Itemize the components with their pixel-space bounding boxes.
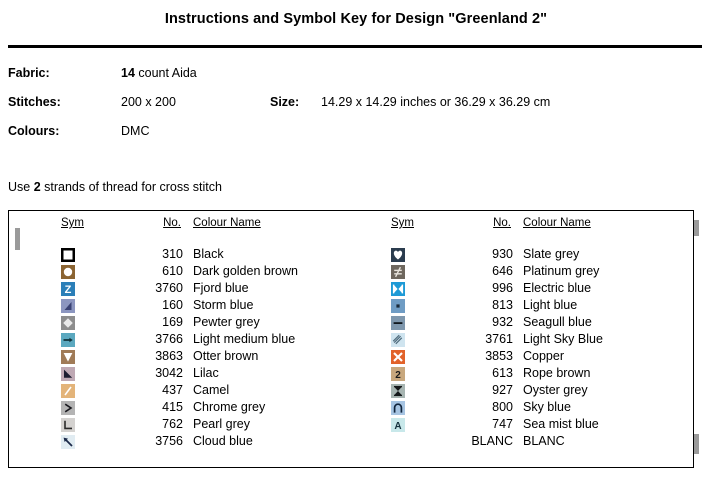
heart-icon [391,248,405,262]
thread-number: 3853 [451,349,513,363]
table-row: 927Oyster grey [355,383,685,400]
pattern-metadata: Fabric: 14 count Aida Stitches: 200 x 20… [8,66,704,153]
colour-name: Rope brown [523,366,590,380]
colour-name: Oyster grey [523,383,588,397]
diamond-icon [61,316,75,330]
table-row: 3756Cloud blue [25,434,355,451]
symbol-key-column-right: Sym No. Colour Name 930Slate grey646Plat… [355,217,685,451]
arrow-right-icon [61,333,75,347]
header-sym-left: Sym [61,217,84,229]
colour-name: Light medium blue [193,332,295,346]
stitches-row: Stitches: 200 x 200 Size: 14.29 x 14.29 … [8,95,704,124]
colour-name: Sea mist blue [523,417,599,431]
diagonal-arrow-icon [61,435,75,449]
table-row: 415Chrome grey [25,400,355,417]
fabric-label: Fabric: [8,66,50,80]
thread-number: 437 [121,383,183,397]
scrollbar-thumb-right-top[interactable] [694,220,699,236]
thread-number: 996 [451,281,513,295]
colour-name: Otter brown [193,349,258,363]
bowtie-icon [391,282,405,296]
colours-value: DMC [121,124,149,138]
colour-name: Slate grey [523,247,579,261]
triangle-flag-icon [61,367,75,381]
thread-number: 646 [451,264,513,278]
triangle-down-icon [61,350,75,364]
table-row: 160Storm blue [25,298,355,315]
table-row: 930Slate grey [355,247,685,264]
scrollbar-thumb-left[interactable] [15,228,20,250]
colour-name: Chrome grey [193,400,265,414]
table-row: 437Camel [25,383,355,400]
letter-z-icon: Z [61,282,75,296]
thread-number: 762 [121,417,183,431]
triangle-corner-icon [61,299,75,313]
fabric-value: 14 count Aida [121,66,197,80]
symbol-rows-right: 930Slate grey646Platinum grey996Electric… [355,247,685,451]
table-row: 762Pearl grey [25,417,355,434]
dot-icon [391,299,405,313]
cross-x-icon [391,350,405,364]
svg-text:A: A [394,421,401,432]
table-row: 3863Otter brown [25,349,355,366]
table-row: 996Electric blue [355,281,685,298]
colour-name: Sky blue [523,400,571,414]
thread-number: 747 [451,417,513,431]
colour-name: Electric blue [523,281,591,295]
table-row: 3766Light medium blue [25,332,355,349]
colour-name: Black [193,247,224,261]
table-row: A747Sea mist blue [355,417,685,434]
thread-number: 3756 [121,434,183,448]
circle-filled-icon [61,265,75,279]
size-value: 14.29 x 14.29 inches or 36.29 x 36.29 cm [321,95,550,109]
symbol-rows-left: 310Black610Dark golden brownZ3760Fjord b… [25,247,355,451]
table-row: 169Pewter grey [25,315,355,332]
fabric-row: Fabric: 14 count Aida [8,66,704,95]
thread-number: 310 [121,247,183,261]
square-outline-icon [61,248,75,262]
colours-label: Colours: [8,124,59,138]
slash-icon [61,384,75,398]
title-divider [8,45,702,48]
stitches-value: 200 x 200 [121,95,176,109]
not-equal-icon [391,265,405,279]
colour-name: Lilac [193,366,219,380]
thread-number: 932 [451,315,513,329]
scrollbar-thumb-right-bottom[interactable] [694,434,699,454]
symbol-key-panel: Sym No. Colour Name 310Black610Dark gold… [8,210,694,468]
colour-name: Seagull blue [523,315,592,329]
thread-number: 927 [451,383,513,397]
colours-row: Colours: DMC [8,124,704,153]
arch-icon [391,401,405,415]
colour-name: Copper [523,349,564,363]
colour-name: Cloud blue [193,434,253,448]
table-row: Z3760Fjord blue [25,281,355,298]
strands-suffix: strands of thread for cross stitch [41,180,222,194]
blank-icon [391,435,405,449]
greater-than-icon [61,401,75,415]
colour-name: Pewter grey [193,315,260,329]
colour-name: Camel [193,383,229,397]
svg-text:2: 2 [395,370,401,381]
header-name-left: Colour Name [193,217,261,229]
colour-name: BLANC [523,434,565,448]
strands-count: 2 [34,180,41,194]
column-headers-left: Sym No. Colour Name [25,217,355,238]
table-row: BLANCBLANC [355,434,685,451]
thread-number: 800 [451,400,513,414]
colour-name: Fjord blue [193,281,249,295]
colour-name: Platinum grey [523,264,599,278]
table-row: 610Dark golden brown [25,264,355,281]
table-row: 3853Copper [355,349,685,366]
thread-number: 813 [451,298,513,312]
thread-number: 3042 [121,366,183,380]
colour-name: Light blue [523,298,577,312]
fabric-count: 14 [121,66,135,80]
thread-number: 3863 [121,349,183,363]
thread-number: 169 [121,315,183,329]
fabric-unit: count Aida [135,66,197,80]
table-row: 2613Rope brown [355,366,685,383]
thread-number: 610 [121,264,183,278]
colour-name: Light Sky Blue [523,332,603,346]
letter-a-icon: A [391,418,405,432]
thread-number: 160 [121,298,183,312]
thread-number: 613 [451,366,513,380]
table-row: 646Platinum grey [355,264,685,281]
header-no-left: No. [163,217,181,229]
thread-number: 3760 [121,281,183,295]
digit-two-icon: 2 [391,367,405,381]
svg-text:Z: Z [65,284,72,296]
strands-note: Use 2 strands of thread for cross stitch [8,180,222,194]
table-row: 800Sky blue [355,400,685,417]
colour-name: Pearl grey [193,417,250,431]
colour-name: Storm blue [193,298,253,312]
table-row: 813Light blue [355,298,685,315]
table-row: 932Seagull blue [355,315,685,332]
thread-number: 3761 [451,332,513,346]
size-label: Size: [270,95,299,109]
thread-number: BLANC [451,434,513,448]
hourglass-icon [391,384,405,398]
page-title: Instructions and Symbol Key for Design "… [0,0,712,29]
thread-number: 415 [121,400,183,414]
table-row: 3761Light Sky Blue [355,332,685,349]
strands-prefix: Use [8,180,34,194]
colour-name: Dark golden brown [193,264,298,278]
header-no-right: No. [493,217,511,229]
table-row: 310Black [25,247,355,264]
column-headers-right: Sym No. Colour Name [355,217,685,238]
header-name-right: Colour Name [523,217,591,229]
corner-bracket-icon [61,418,75,432]
header-sym-right: Sym [391,217,414,229]
symbol-key-column-left: Sym No. Colour Name 310Black610Dark gold… [25,217,355,451]
dash-icon [391,316,405,330]
stitches-label: Stitches: [8,95,61,109]
table-row: 3042Lilac [25,366,355,383]
thread-number: 930 [451,247,513,261]
thread-number: 3766 [121,332,183,346]
waves-icon [391,333,405,347]
